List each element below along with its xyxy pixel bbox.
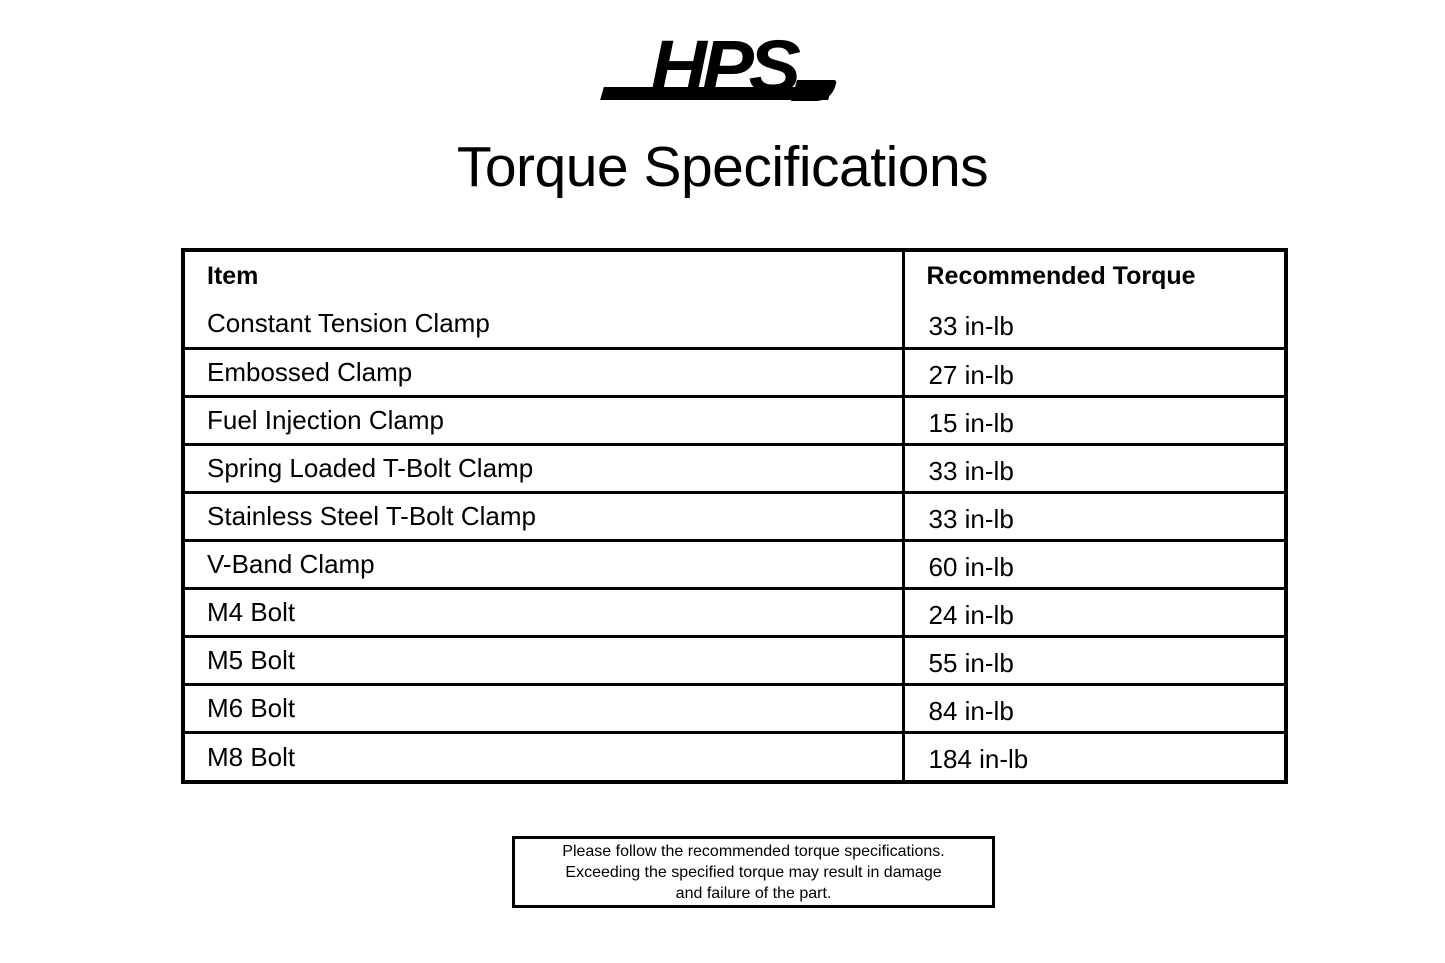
- cell-item: M4 Bolt: [185, 588, 903, 636]
- note-line: and failure of the part.: [676, 883, 832, 904]
- cell-torque: 33 in-lb: [903, 492, 1284, 540]
- cell-item: M8 Bolt: [185, 732, 903, 780]
- table-row: M6 Bolt 84 in-lb: [185, 684, 1284, 732]
- cell-torque: 60 in-lb: [903, 540, 1284, 588]
- column-header-torque: Recommended Torque: [903, 252, 1284, 300]
- column-header-item: Item: [185, 252, 903, 300]
- cell-torque: 33 in-lb: [903, 444, 1284, 492]
- table-row: Stainless Steel T-Bolt Clamp 33 in-lb: [185, 492, 1284, 540]
- warning-note-box: Please follow the recommended torque spe…: [512, 836, 995, 908]
- cell-item: M5 Bolt: [185, 636, 903, 684]
- brand-logo-container: HPS: [0, 30, 1445, 120]
- cell-torque: 55 in-lb: [903, 636, 1284, 684]
- table-body: Constant Tension Clamp 33 in-lb Embossed…: [185, 300, 1284, 780]
- cell-item: M6 Bolt: [185, 684, 903, 732]
- table-row: M8 Bolt 184 in-lb: [185, 732, 1284, 780]
- cell-item: Fuel Injection Clamp: [185, 396, 903, 444]
- cell-torque: 15 in-lb: [903, 396, 1284, 444]
- cell-torque: 84 in-lb: [903, 684, 1284, 732]
- table-row: Spring Loaded T-Bolt Clamp 33 in-lb: [185, 444, 1284, 492]
- table-row: Embossed Clamp 27 in-lb: [185, 348, 1284, 396]
- torque-specifications-document: { "brand": { "logo_text": "HPS", "logo_i…: [0, 0, 1445, 963]
- cell-item: Embossed Clamp: [185, 348, 903, 396]
- cell-item: Stainless Steel T-Bolt Clamp: [185, 492, 903, 540]
- cell-item: Constant Tension Clamp: [185, 300, 903, 348]
- torque-table: Item Recommended Torque Constant Tension…: [181, 248, 1288, 784]
- cell-torque: 24 in-lb: [903, 588, 1284, 636]
- cell-torque: 27 in-lb: [903, 348, 1284, 396]
- note-line: Please follow the recommended torque spe…: [562, 841, 944, 862]
- table-header-row: Item Recommended Torque: [185, 252, 1284, 300]
- table-row: M5 Bolt 55 in-lb: [185, 636, 1284, 684]
- cell-torque: 184 in-lb: [903, 732, 1284, 780]
- table-row: V-Band Clamp 60 in-lb: [185, 540, 1284, 588]
- cell-item: V-Band Clamp: [185, 540, 903, 588]
- cell-torque: 33 in-lb: [903, 300, 1284, 348]
- hps-wordmark-logo: HPS: [598, 30, 848, 120]
- table-row: Constant Tension Clamp 33 in-lb: [185, 300, 1284, 348]
- note-line: Exceeding the specified torque may resul…: [565, 862, 941, 883]
- cell-item: Spring Loaded T-Bolt Clamp: [185, 444, 903, 492]
- table-row: M4 Bolt 24 in-lb: [185, 588, 1284, 636]
- table-row: Fuel Injection Clamp 15 in-lb: [185, 396, 1284, 444]
- page-title: Torque Specifications: [0, 133, 1445, 201]
